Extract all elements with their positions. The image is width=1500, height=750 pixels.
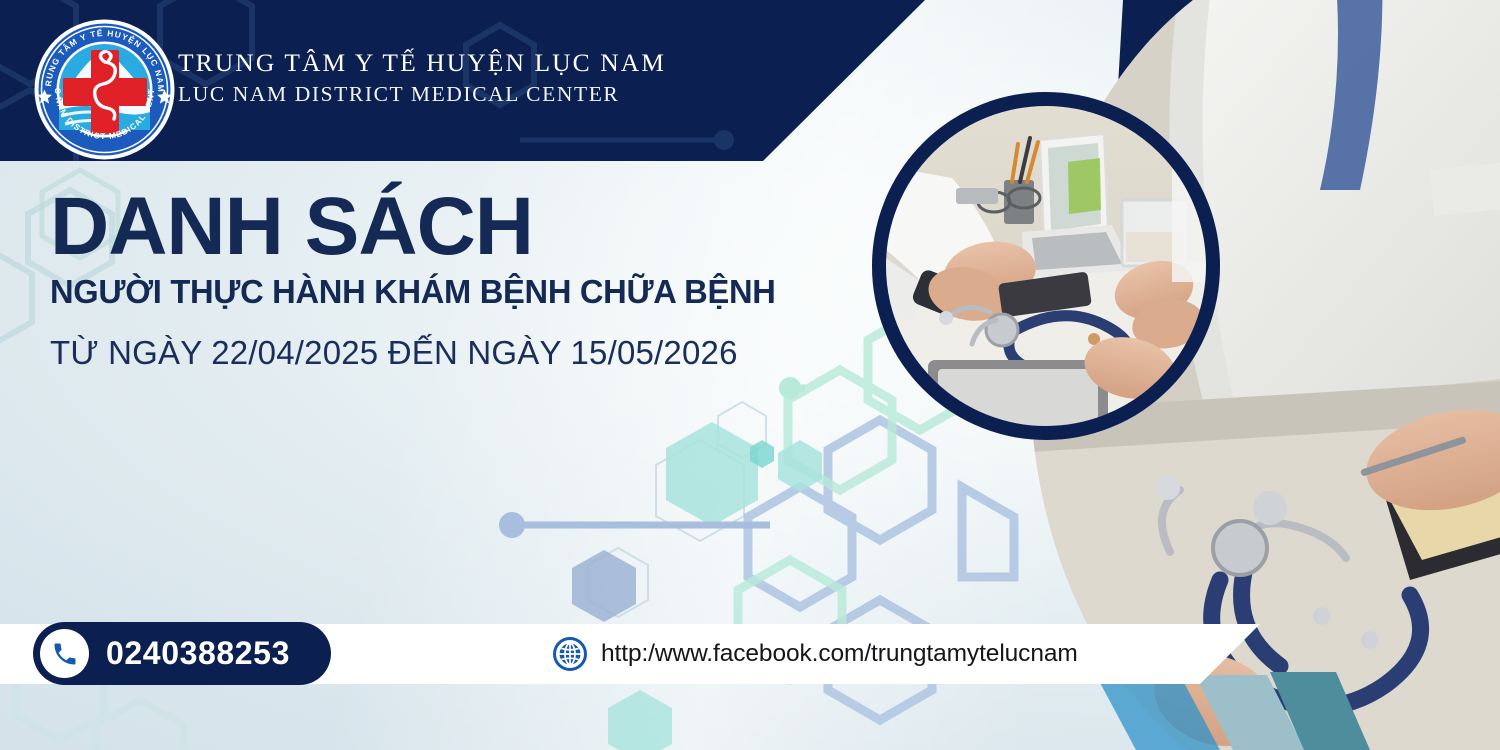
website-row[interactable]: http:/www.facebook.com/trungtamytelucnam (553, 637, 1078, 671)
banner-root: TRUNG TÂM Y TẾ HUYỆN LỤC NAM LUC NAM DIS… (0, 0, 1500, 750)
phone-button[interactable]: 0240388253 (33, 622, 331, 685)
org-name-vietnamese: TRUNG TÂM Y TẾ HUYỆN LỤC NAM (178, 47, 666, 78)
page-subtitle: NGƯỜI THỰC HÀNH KHÁM BỆNH CHỮA BỆNH (50, 276, 776, 310)
phone-handset-icon (40, 629, 89, 678)
globe-icon (553, 637, 587, 671)
page-title: DANH SÁCH (50, 186, 533, 268)
photo-circle-ring (872, 92, 1220, 440)
date-range-label: TỪ NGÀY 22/04/2025 ĐẾN NGÀY 15/05/2026 (50, 336, 738, 369)
organization-name-block: TRUNG TÂM Y TẾ HUYỆN LỤC NAM LUC NAM DIS… (178, 47, 666, 108)
website-url: http:/www.facebook.com/trungtamytelucnam (601, 640, 1078, 668)
org-name-english: LUC NAM DISTRICT MEDICAL CENTER (178, 81, 666, 108)
medical-center-seal-logo: TRUNG TÂM Y TẾ HUYỆN LỤC NAM LUC NAM DIS… (33, 18, 176, 161)
phone-number: 0240388253 (106, 635, 290, 672)
